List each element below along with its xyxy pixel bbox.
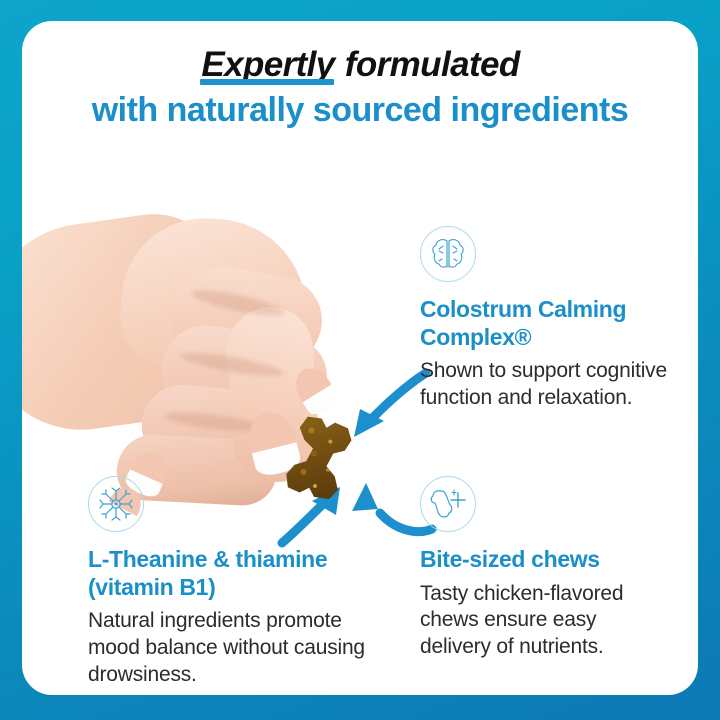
feature-colostrum: Colostrum Calming Complex® Shown to supp… xyxy=(420,226,682,412)
bone-chew-sparkle-icon xyxy=(420,476,476,532)
headline-line-1: Expertly formulated xyxy=(22,45,698,84)
headline-line-1-rest: formulated xyxy=(336,45,520,84)
brain-icon xyxy=(420,226,476,282)
feature-title: L-Theanine & thiamine (vitamin B1) xyxy=(88,546,398,601)
feature-body: Tasty chicken-flavored chews ensure easy… xyxy=(420,581,670,661)
feature-chews: Bite-sized chews Tasty chicken-flavored … xyxy=(420,476,670,661)
feature-theanine: L-Theanine & thiamine (vitamin B1) Natur… xyxy=(88,476,398,688)
feature-title: Bite-sized chews xyxy=(420,546,670,574)
neuron-icon xyxy=(88,476,144,532)
feature-title: Colostrum Calming Complex® xyxy=(420,296,682,351)
headline-block: Expertly formulated with naturally sourc… xyxy=(22,45,698,132)
headline-line-2: with naturally sourced ingredients xyxy=(22,90,698,131)
product-info-card: Expertly formulated with naturally sourc… xyxy=(22,21,698,695)
feature-body: Natural ingredients promote mood balance… xyxy=(88,608,398,688)
feature-body: Shown to support cognitive function and … xyxy=(420,358,682,411)
headline-emphasis-expertly: Expertly xyxy=(200,45,335,84)
